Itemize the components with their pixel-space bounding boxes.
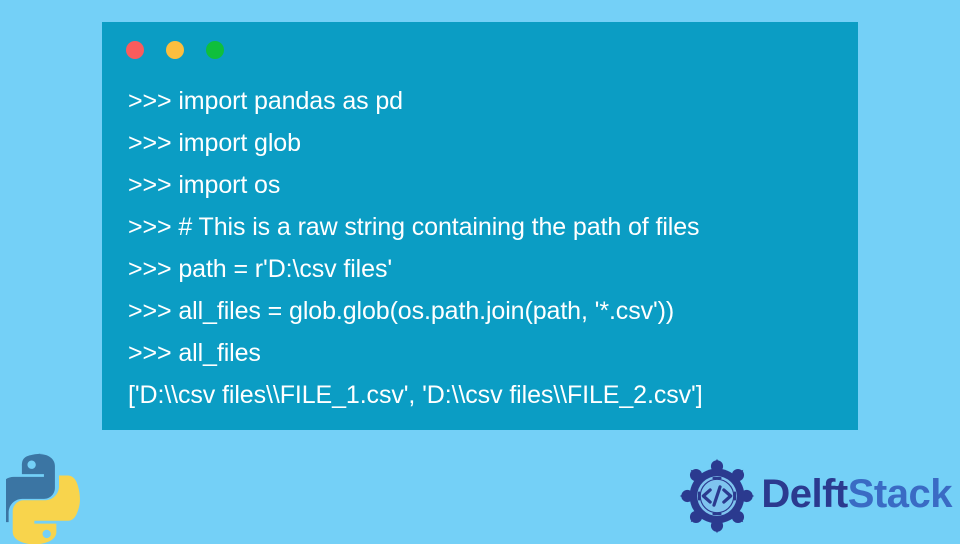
code-line: >>> all_files	[128, 332, 848, 374]
code-block: >>> import pandas as pd >>> import glob …	[128, 80, 848, 416]
code-window: >>> import pandas as pd >>> import glob …	[102, 22, 858, 430]
code-line: >>> all_files = glob.glob(os.path.join(p…	[128, 290, 848, 332]
maximize-window-dot[interactable]	[206, 41, 224, 59]
delftstack-emblem-icon	[679, 458, 755, 534]
code-line: >>> import pandas as pd	[128, 80, 848, 122]
window-titlebar	[126, 41, 224, 59]
minimize-window-dot[interactable]	[166, 41, 184, 59]
brand-word-delft: Delft	[761, 472, 847, 516]
close-window-dot[interactable]	[126, 41, 144, 59]
brand-word-stack: Stack	[848, 472, 952, 516]
code-line: >>> import glob	[128, 122, 848, 164]
code-line: >>> # This is a raw string containing th…	[128, 206, 848, 248]
delftstack-wordmark: DelftStack	[761, 474, 952, 518]
python-logo-icon	[6, 452, 82, 544]
code-line: >>> import os	[128, 164, 848, 206]
code-line: ['D:\\csv files\\FILE_1.csv', 'D:\\csv f…	[128, 374, 848, 416]
delftstack-logo: DelftStack	[679, 458, 952, 534]
code-line: >>> path = r'D:\csv files'	[128, 248, 848, 290]
